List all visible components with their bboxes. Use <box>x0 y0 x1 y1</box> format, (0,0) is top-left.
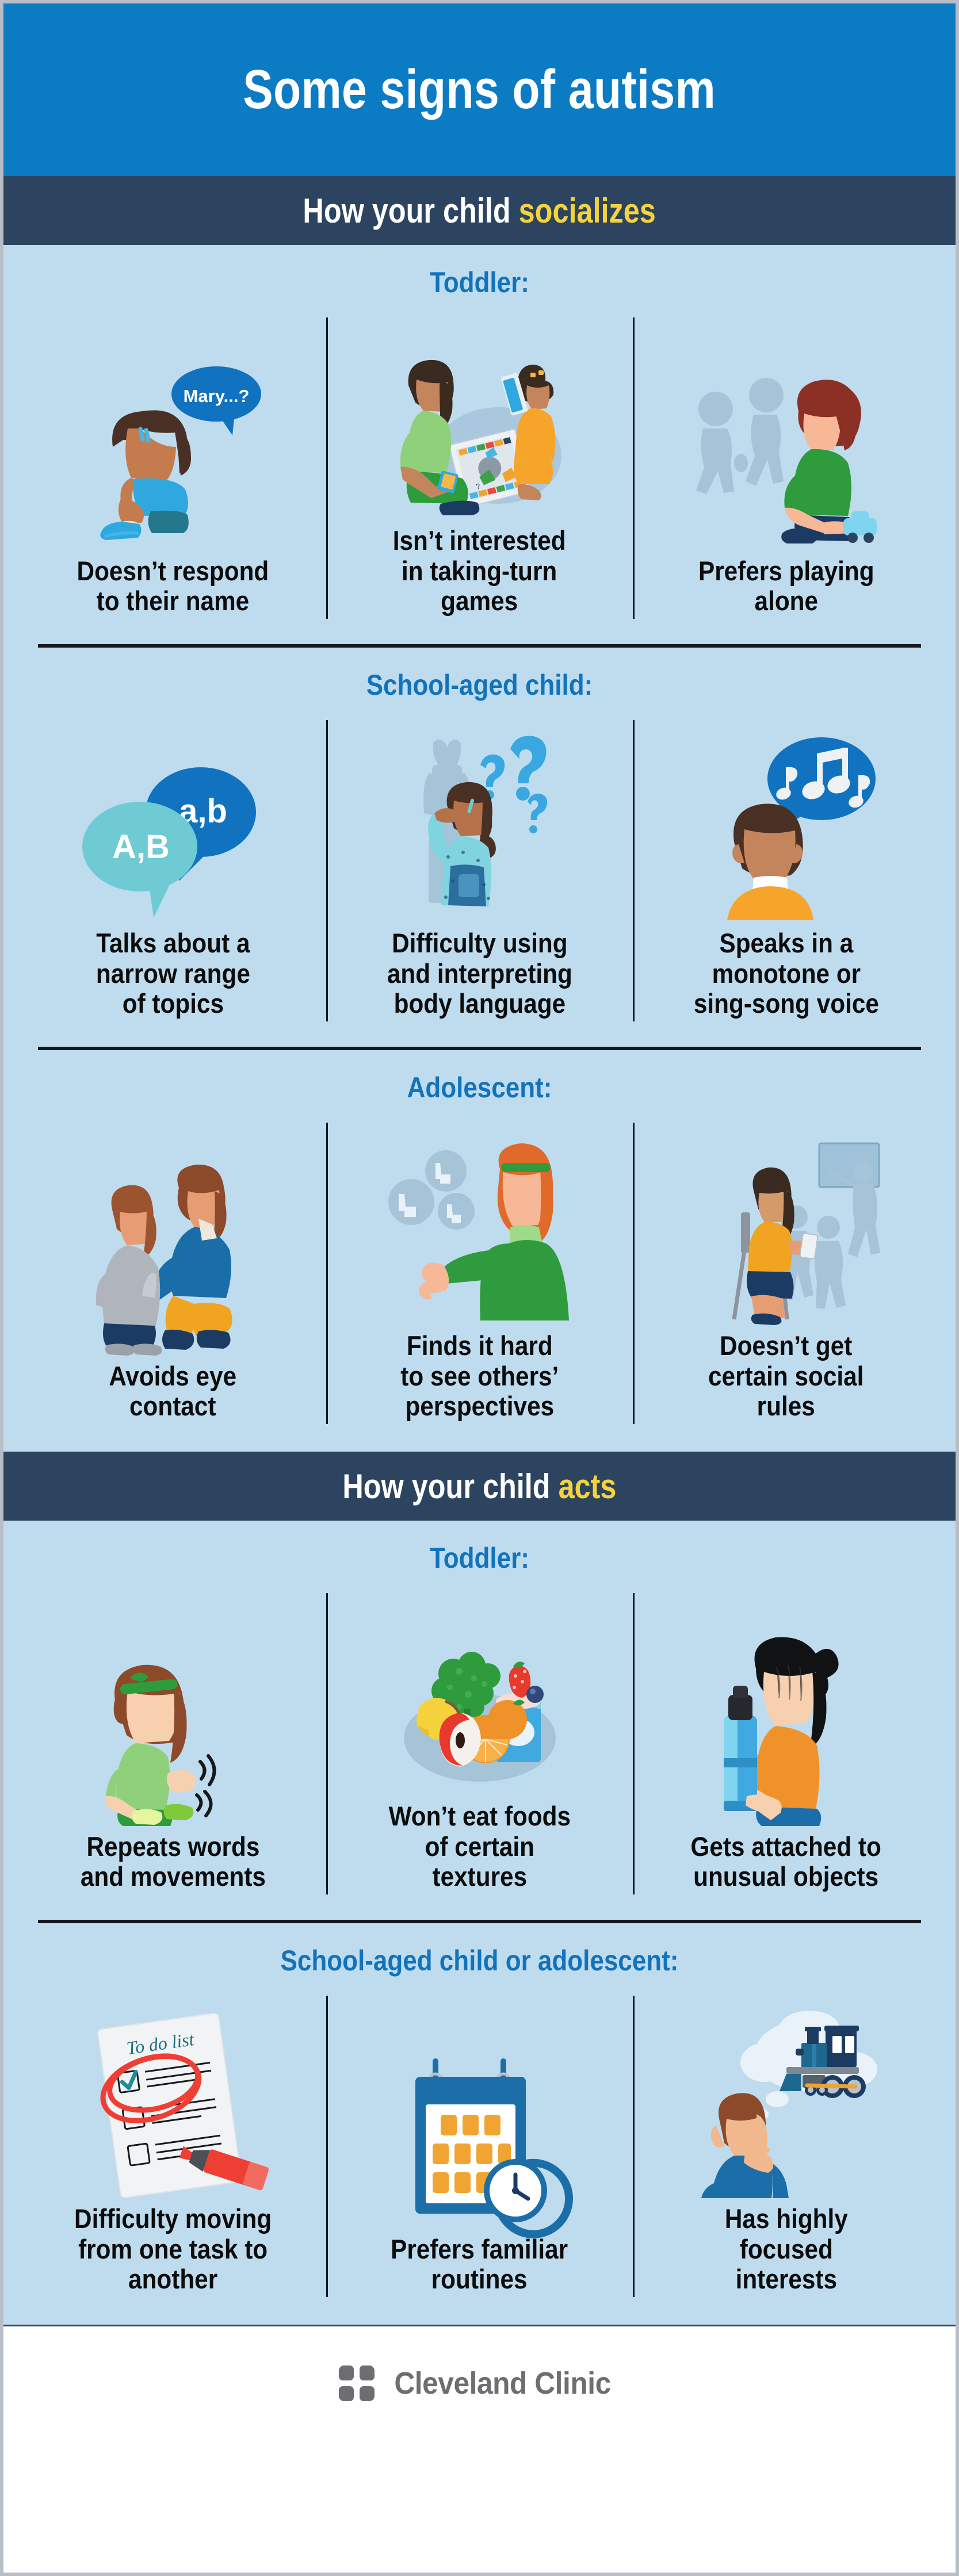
art-boy-music-bubble <box>641 707 931 928</box>
card-repeats-words-and-movements[interactable]: Repeats words and movements <box>20 1580 326 1903</box>
card-caption: Doesn’t respond to their name <box>77 556 269 627</box>
brand-name: Cleveland Clinic <box>394 2366 610 2401</box>
card-caption: Difficulty moving from one task to anoth… <box>74 2204 272 2305</box>
cleveland-clinic-logo-icon <box>339 2366 375 2401</box>
card-doesnt-respond-to-name[interactable]: Mary...? Doesn’t <box>20 305 326 627</box>
girl-thumbs-down-icon <box>379 1135 580 1325</box>
section-header-socializes: How your child socializes <box>3 176 956 245</box>
art-girl-confused-question-marks <box>334 707 625 928</box>
logo-square-bottom-left <box>339 2386 354 2401</box>
card-caption: Difficulty using and interpreting body l… <box>387 928 572 1029</box>
logo-square-top-right <box>360 2366 375 2380</box>
todo-list-highlighter-icon: To do list <box>75 2008 271 2198</box>
art-girl-thumbs-down <box>334 1110 625 1331</box>
art-girl-hand-flapping <box>28 1580 318 1832</box>
card-not-interested-taking-turn-games[interactable]: ? <box>326 305 633 627</box>
boy-toy-car-alone-icon <box>686 361 887 550</box>
boy-water-bottle-icon <box>691 1630 881 1826</box>
art-food-plate <box>334 1580 625 1801</box>
logo-square-top-left <box>339 2366 354 2380</box>
infographic-page: Some signs of autism How your child soci… <box>0 0 959 2576</box>
girl-confused-question-marks-icon <box>379 733 580 923</box>
girl-hand-flapping-icon <box>78 1636 268 1826</box>
card-caption: Has highly focused interests <box>725 2204 848 2305</box>
art-teen-avoiding-eye-contact <box>28 1110 318 1361</box>
age-label-toddler-acts: Toddler: <box>60 1521 898 1580</box>
panel-socializes: Toddler: Mary...? <box>3 245 956 1452</box>
calendar-clock-icon <box>388 2045 572 2229</box>
row-school-social: a,b A,B Talks about a narrow range of to… <box>3 707 956 1044</box>
classroom-phone-icon <box>686 1135 887 1325</box>
art-girl-sitting-speech: Mary...? <box>28 305 318 556</box>
footer: Cleveland Clinic <box>3 2325 956 2440</box>
row-toddler-social: Mary...? Doesn’t <box>3 305 956 642</box>
card-caption: Talks about a narrow range of topics <box>96 928 250 1029</box>
card-caption: Prefers familiar routines <box>391 2234 568 2305</box>
art-todo-list-highlighter: To do list <box>28 1983 318 2204</box>
row-adolescent-social: Avoids eye contact <box>3 1110 956 1447</box>
food-plate-icon <box>382 1623 578 1796</box>
art-man-train-thought <box>641 1983 931 2204</box>
card-caption: Doesn’t get certain social rules <box>708 1331 864 1432</box>
teen-avoiding-eye-contact-icon <box>75 1160 271 1356</box>
section-title-highlight: socializes <box>519 192 656 230</box>
row-toddler-acts: Repeats words and movements <box>3 1580 956 1917</box>
age-label-toddler-social: Toddler: <box>60 245 898 305</box>
section-title-plain: How your child <box>342 1467 558 1506</box>
title-band: Some signs of autism <box>3 3 956 176</box>
row-school-or-adolescent: To do list <box>3 1983 956 2320</box>
boy-music-bubble-icon <box>691 733 881 923</box>
art-calendar-clock <box>334 1983 625 2234</box>
card-caption: Avoids eye contact <box>109 1361 237 1432</box>
card-certain-social-rules[interactable]: Doesn’t get certain social rules <box>633 1110 939 1432</box>
card-avoids-eye-contact[interactable]: Avoids eye contact <box>20 1110 326 1432</box>
card-prefers-playing-alone[interactable]: Prefers playing alone <box>633 305 939 627</box>
bubble-text-uppercase: A,B <box>112 828 170 866</box>
age-label-school-or-adolescent: School-aged child or adolescent: <box>60 1923 898 1983</box>
art-classroom-phone <box>641 1110 931 1331</box>
card-narrow-range-of-topics[interactable]: a,b A,B Talks about a narrow range of to… <box>20 707 326 1029</box>
card-caption: Gets attached to unusual objects <box>691 1832 881 1903</box>
logo-square-bottom-right <box>360 2386 375 2401</box>
section-title-highlight: acts <box>559 1467 617 1506</box>
section-header-acts: How your child acts <box>3 1452 956 1521</box>
girl-sitting-speech-icon: Mary...? <box>78 361 268 550</box>
man-train-thought-icon <box>689 2003 884 2198</box>
card-caption: Isn’t interested in taking-turn games <box>393 526 566 627</box>
age-label-school-social: School-aged child: <box>60 648 898 707</box>
age-label-adolescent-social: Adolescent: <box>60 1050 898 1110</box>
art-kids-board-game: ? <box>334 305 625 526</box>
card-difficulty-moving-tasks[interactable]: To do list <box>20 1983 326 2305</box>
page-title: Some signs of autism <box>243 58 716 121</box>
card-monotone-sing-song-voice[interactable]: Speaks in a monotone or sing-song voice <box>633 707 939 1029</box>
card-caption: Prefers playing alone <box>698 556 874 627</box>
section-title-plain: How your child <box>303 192 519 230</box>
card-highly-focused-interests[interactable]: Has highly focused interests <box>633 1983 939 2305</box>
section-title: How your child socializes <box>303 191 656 231</box>
card-caption: Repeats words and movements <box>80 1832 265 1903</box>
card-wont-eat-certain-textures[interactable]: Won’t eat foods of certain textures <box>326 1580 633 1903</box>
art-speech-bubbles-letters: a,b A,B <box>28 707 318 928</box>
art-boy-water-bottle <box>641 1580 931 1832</box>
panel-acts: Toddler: <box>3 1521 956 2325</box>
card-difficulty-body-language[interactable]: Difficulty using and interpreting body l… <box>326 707 633 1029</box>
speech-text: Mary...? <box>183 386 249 406</box>
speech-bubbles-letters-icon: a,b A,B <box>75 750 271 923</box>
card-prefers-familiar-routines[interactable]: Prefers familiar routines <box>326 1983 633 2305</box>
card-attached-unusual-objects[interactable]: Gets attached to unusual objects <box>633 1580 939 1903</box>
card-caption: Won’t eat foods of certain textures <box>388 1801 570 1903</box>
card-caption: Finds it hard to see others’ perspective… <box>400 1331 559 1432</box>
kids-board-game-icon: ? <box>376 330 583 520</box>
card-caption: Speaks in a monotone or sing-song voice <box>693 928 878 1029</box>
art-boy-toy-car-alone <box>641 305 931 556</box>
card-others-perspectives[interactable]: Finds it hard to see others’ perspective… <box>326 1110 633 1432</box>
section-title: How your child acts <box>342 1467 616 1506</box>
